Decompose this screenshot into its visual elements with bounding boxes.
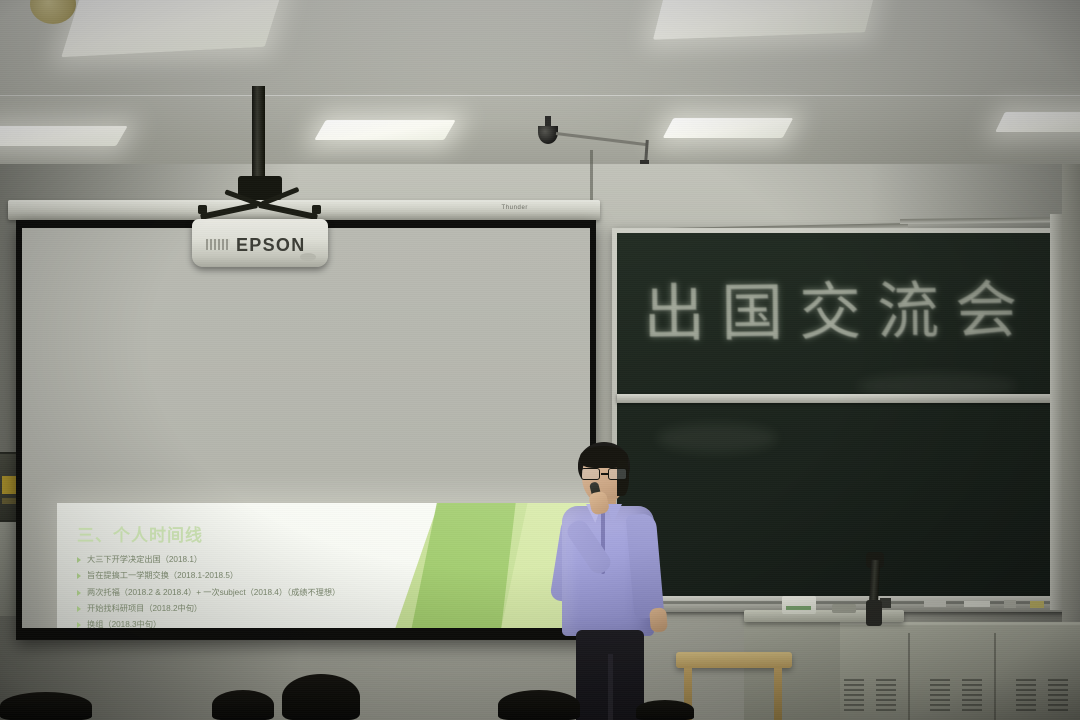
- locker-vent-1-icon: [844, 679, 864, 713]
- tray-chalk-2[interactable]: [964, 601, 990, 607]
- classroom-scene: 出国交流会 Thunder 三、个人时间线 大三下开学决定出国（20: [0, 0, 1080, 720]
- teacher-desk-body[interactable]: [744, 618, 840, 720]
- screen-brand-label: Thunder: [501, 205, 528, 211]
- mount-arm-1: [200, 202, 258, 220]
- locker-vent-4-icon: [962, 679, 982, 713]
- bullet-text: 两次托福（2018.2 & 2018.4）+ 一次subject（2018.4）…: [87, 588, 340, 597]
- wooden-stool[interactable]: [676, 652, 792, 668]
- projector-vent-icon: [206, 239, 230, 250]
- tray-chalk-1[interactable]: [924, 600, 946, 607]
- mount-knob-2: [312, 205, 321, 214]
- audience-head-4: [0, 692, 92, 720]
- presentation-slide: 三、个人时间线 大三下开学决定出国（2018.1） 旨在提搞工一学期交换（201…: [57, 503, 590, 628]
- bullet-text: 大三下开学决定出国（2018.1）: [87, 555, 202, 564]
- locker-vent-2-icon: [876, 679, 896, 713]
- presenter-hand-right: [649, 607, 668, 632]
- list-item: 旨在提搞工一学期交换（2018.1-2018.5）: [77, 571, 586, 580]
- bullet-triangle-icon: [77, 590, 81, 596]
- blackboard-chalk-text: 出国交流会: [643, 259, 1034, 353]
- locker-vent-5-icon: [1016, 679, 1036, 713]
- glasses-lens-left: [581, 468, 600, 480]
- mount-knob-1: [198, 205, 207, 214]
- tissue-box-slot-icon: [786, 606, 811, 610]
- stool-leg-2: [774, 668, 782, 720]
- projector-lens-icon: [300, 253, 316, 261]
- projector-brand-label: EPSON: [236, 235, 306, 256]
- tray-chalk-yellow[interactable]: [1030, 601, 1044, 608]
- projector-mount-pole: [252, 86, 265, 182]
- list-item: 换组（2018.3中旬）: [77, 620, 586, 628]
- ceiling-panel-light-4: [314, 120, 456, 140]
- bullet-text: 旨在提搞工一学期交换（2018.1-2018.5）: [87, 571, 238, 580]
- glasses-icon: [580, 468, 630, 480]
- locker-vent-6-icon: [1048, 679, 1068, 713]
- tray-eraser-2[interactable]: [1004, 600, 1016, 608]
- bullet-triangle-icon: [77, 557, 81, 563]
- bullet-triangle-icon: [77, 622, 81, 628]
- ceiling-panel-light-5: [663, 118, 794, 138]
- audience-head-1: [282, 674, 360, 720]
- slide-title: 三、个人时间线: [77, 521, 586, 546]
- list-item: 两次托福（2018.2 & 2018.4）+ 一次subject（2018.4）…: [77, 588, 586, 597]
- audience-head-5: [636, 700, 694, 720]
- bullet-text: 开始找科研项目（2018.2中旬）: [87, 604, 202, 613]
- bullet-text: 换组（2018.3中旬）: [87, 620, 161, 628]
- audience-head-3: [498, 690, 580, 720]
- slide-content: 三、个人时间线 大三下开学决定出国（2018.1） 旨在提搞工一学期交换（201…: [57, 503, 590, 628]
- mount-arm-2: [258, 202, 318, 220]
- projector-mount-arms: [200, 192, 320, 222]
- mic-stand-base: [866, 600, 882, 626]
- list-item: 大三下开学决定出国（2018.1）: [77, 555, 586, 564]
- storage-lockers[interactable]: [822, 622, 1080, 720]
- ceiling-panel-light-3: [0, 126, 128, 146]
- bullet-triangle-icon: [77, 606, 81, 612]
- tissue-box[interactable]: [782, 596, 816, 614]
- presenter-leg-separation: [608, 654, 613, 720]
- bullet-triangle-icon: [77, 573, 81, 579]
- projection-screen-canvas: 三、个人时间线 大三下开学决定出国（2018.1） 旨在提搞工一学期交换（201…: [22, 228, 590, 628]
- list-item: 开始找科研项目（2018.2中旬）: [77, 604, 586, 613]
- desk-small-object[interactable]: [832, 604, 856, 613]
- slide-bullet-list: 大三下开学决定出国（2018.1） 旨在提搞工一学期交换（2018.1-2018…: [77, 555, 586, 628]
- blackboard-divider-rail: [617, 394, 1079, 403]
- ceiling-panel-light-6: [995, 112, 1080, 132]
- locker-vent-3-icon: [930, 679, 950, 713]
- audience-head-2: [212, 690, 274, 720]
- glasses-lens-right: [608, 468, 627, 480]
- projector: EPSON: [192, 219, 328, 267]
